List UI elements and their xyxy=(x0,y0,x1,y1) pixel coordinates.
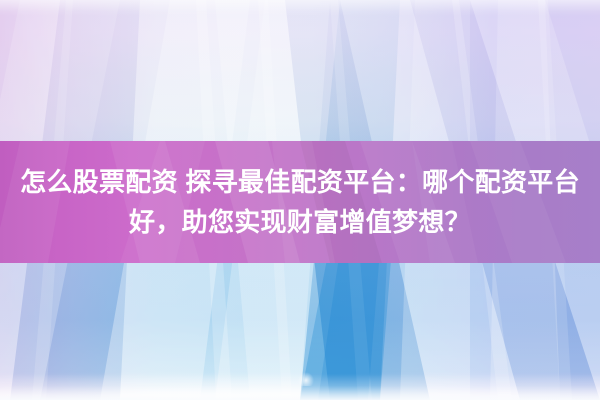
headline-line-1: 怎么股票配资 探寻最佳配资平台：哪个配资平台 xyxy=(20,162,580,202)
top-highlight-fade xyxy=(0,0,600,16)
headline-text: 怎么股票配资 探寻最佳配资平台：哪个配资平台 好，助您实现财富增值梦想？ xyxy=(0,141,600,263)
promo-banner: 怎么股票配资 探寻最佳配资平台：哪个配资平台 好，助您实现财富增值梦想？ xyxy=(0,0,600,400)
bottom-white-fade xyxy=(0,374,600,400)
headline-line-2: 好，助您实现财富增值梦想？ xyxy=(129,202,471,242)
